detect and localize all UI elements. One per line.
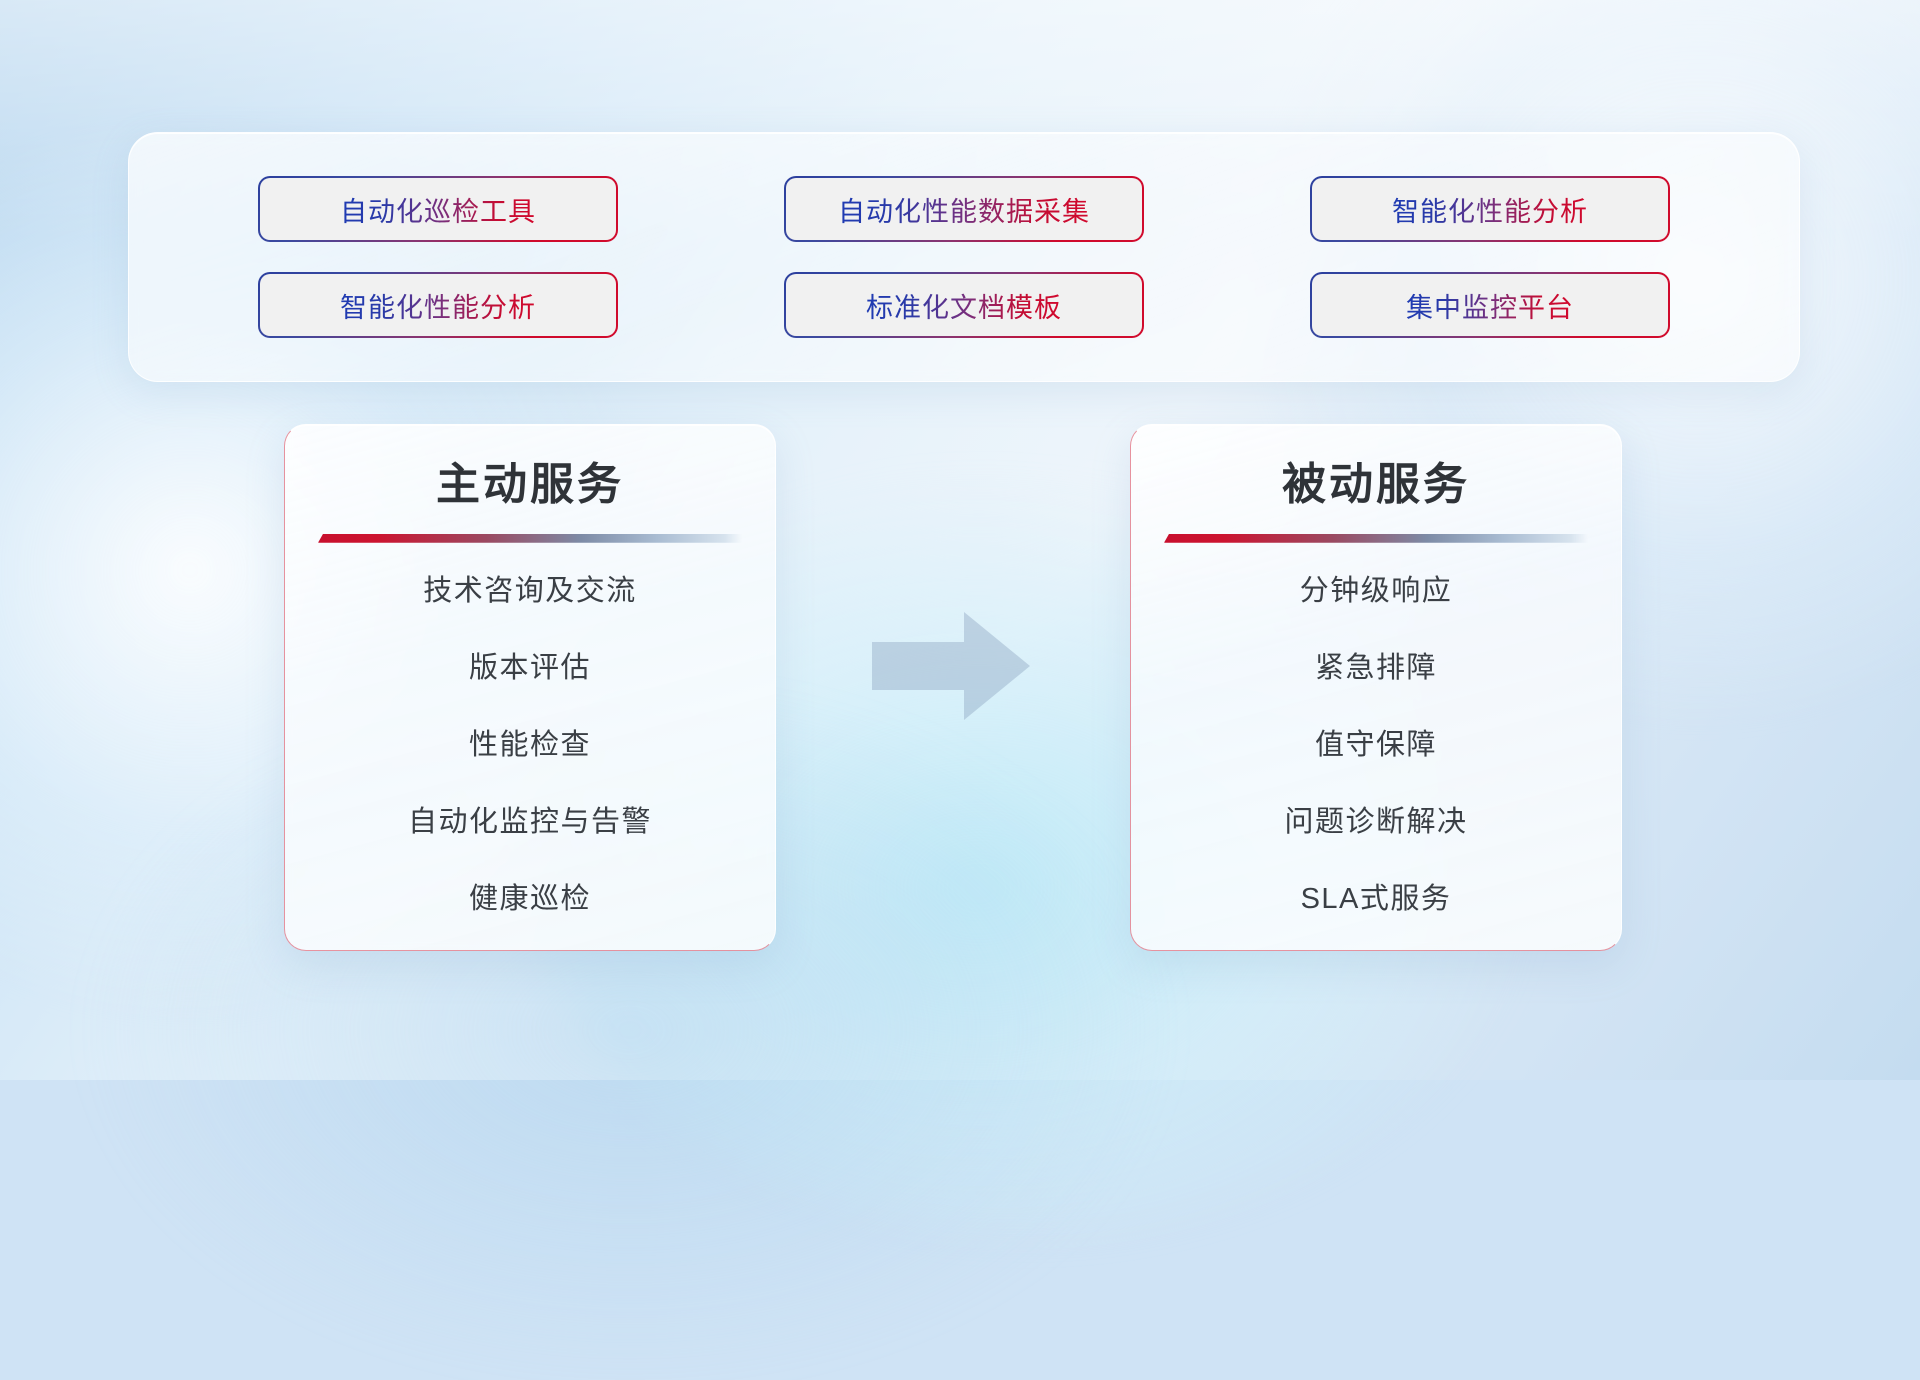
arrow-right-icon (872, 612, 1030, 720)
capability-pill-label: 自动化巡检工具 (340, 190, 536, 229)
card-divider (318, 534, 742, 543)
card-list-item: 紧急排障 (1131, 654, 1621, 683)
capability-pill[interactable]: 标准化文档模板 (786, 274, 1142, 336)
capability-pill-label: 智能化性能分析 (340, 286, 536, 325)
capability-pill[interactable]: 智能化性能分析 (1312, 178, 1668, 240)
card-title: 主动服务 (285, 459, 775, 512)
capability-pill-label: 智能化性能分析 (1392, 190, 1588, 229)
capability-pill-label: 自动化性能数据采集 (838, 190, 1090, 229)
capability-pill-label: 集中监控平台 (1406, 286, 1574, 325)
card-list-item: 分钟级响应 (1131, 577, 1621, 606)
service-card-passive: 被动服务 分钟级响应 紧急排障 值守保障 问题诊断解决 SLA式服务 (1130, 424, 1622, 951)
capability-pill[interactable]: 智能化性能分析 (260, 274, 616, 336)
card-item-list: 技术咨询及交流 版本评估 性能检查 自动化监控与告警 健康巡检 (285, 577, 775, 914)
card-list-item: 技术咨询及交流 (285, 577, 775, 606)
card-list-item: SLA式服务 (1131, 885, 1621, 914)
capability-pill[interactable]: 集中监控平台 (1312, 274, 1668, 336)
card-item-list: 分钟级响应 紧急排障 值守保障 问题诊断解决 SLA式服务 (1131, 577, 1621, 914)
capability-pill[interactable]: 自动化性能数据采集 (786, 178, 1142, 240)
card-divider (1164, 534, 1588, 543)
card-list-item: 值守保障 (1131, 731, 1621, 760)
card-list-item: 版本评估 (285, 654, 775, 683)
card-title: 被动服务 (1131, 459, 1621, 512)
card-list-item: 性能检查 (285, 731, 775, 760)
capability-pill[interactable]: 自动化巡检工具 (260, 178, 616, 240)
card-list-item: 健康巡检 (285, 885, 775, 914)
capability-panel: 自动化巡检工具 自动化性能数据采集 智能化性能分析 智能化性能分析 标准化文档模… (128, 132, 1800, 382)
service-card-active: 主动服务 技术咨询及交流 版本评估 性能检查 自动化监控与告警 健康巡检 (284, 424, 776, 951)
capability-pill-label: 标准化文档模板 (866, 286, 1062, 325)
card-list-item: 问题诊断解决 (1131, 808, 1621, 837)
card-list-item: 自动化监控与告警 (285, 808, 775, 837)
